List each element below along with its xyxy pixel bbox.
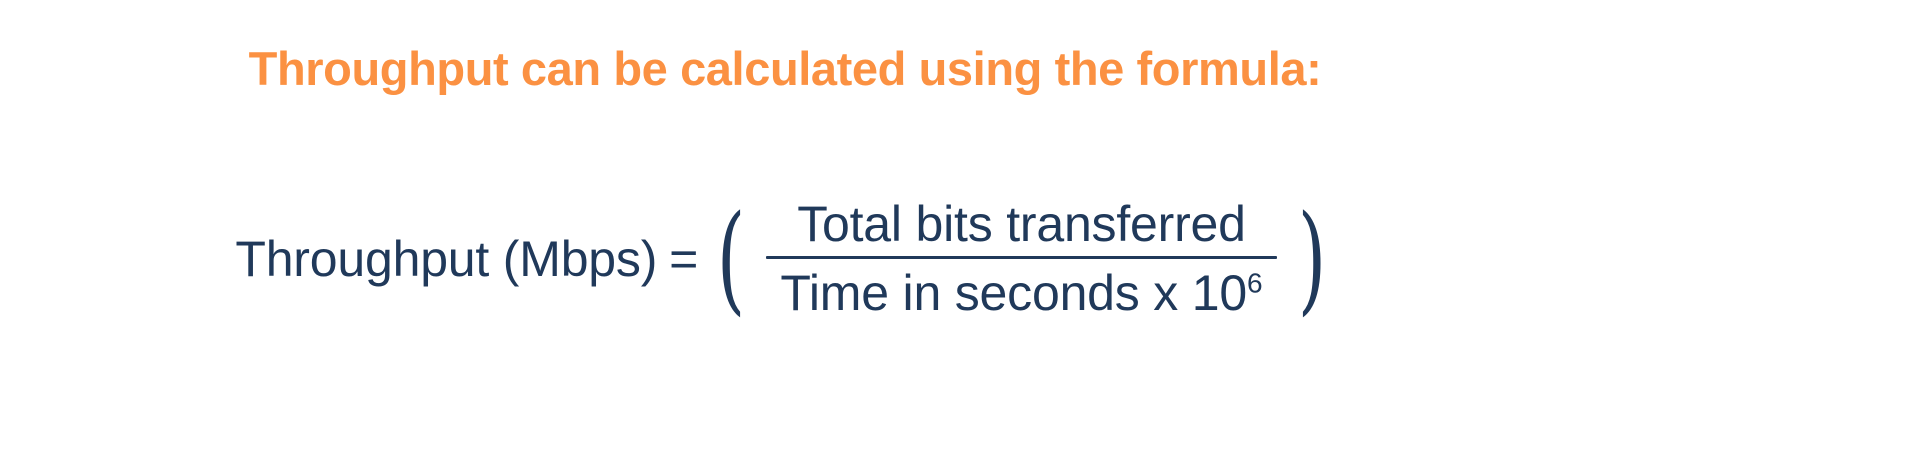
title-row: Throughput can be calculated using the f… <box>0 44 1570 93</box>
page-title: Throughput can be calculated using the f… <box>249 44 1322 93</box>
denominator-exponent: 6 <box>1247 267 1263 298</box>
fraction: Total bits transferred Time in seconds x… <box>766 196 1276 321</box>
close-paren-glyph: ) <box>1297 216 1326 301</box>
fraction-denominator: Time in seconds x 106 <box>766 259 1276 321</box>
fraction-numerator: Total bits transferred <box>783 196 1260 256</box>
formula-block: Throughput (Mbps) = ( Total bits transfe… <box>0 196 1570 321</box>
denominator-base: Time in seconds x 10 <box>780 265 1247 321</box>
formula-left-hand-side: Throughput (Mbps) <box>235 234 657 284</box>
equals-sign: = <box>669 234 698 284</box>
slide-canvas: Throughput can be calculated using the f… <box>0 0 1920 462</box>
open-paren-glyph: ( <box>717 216 746 301</box>
